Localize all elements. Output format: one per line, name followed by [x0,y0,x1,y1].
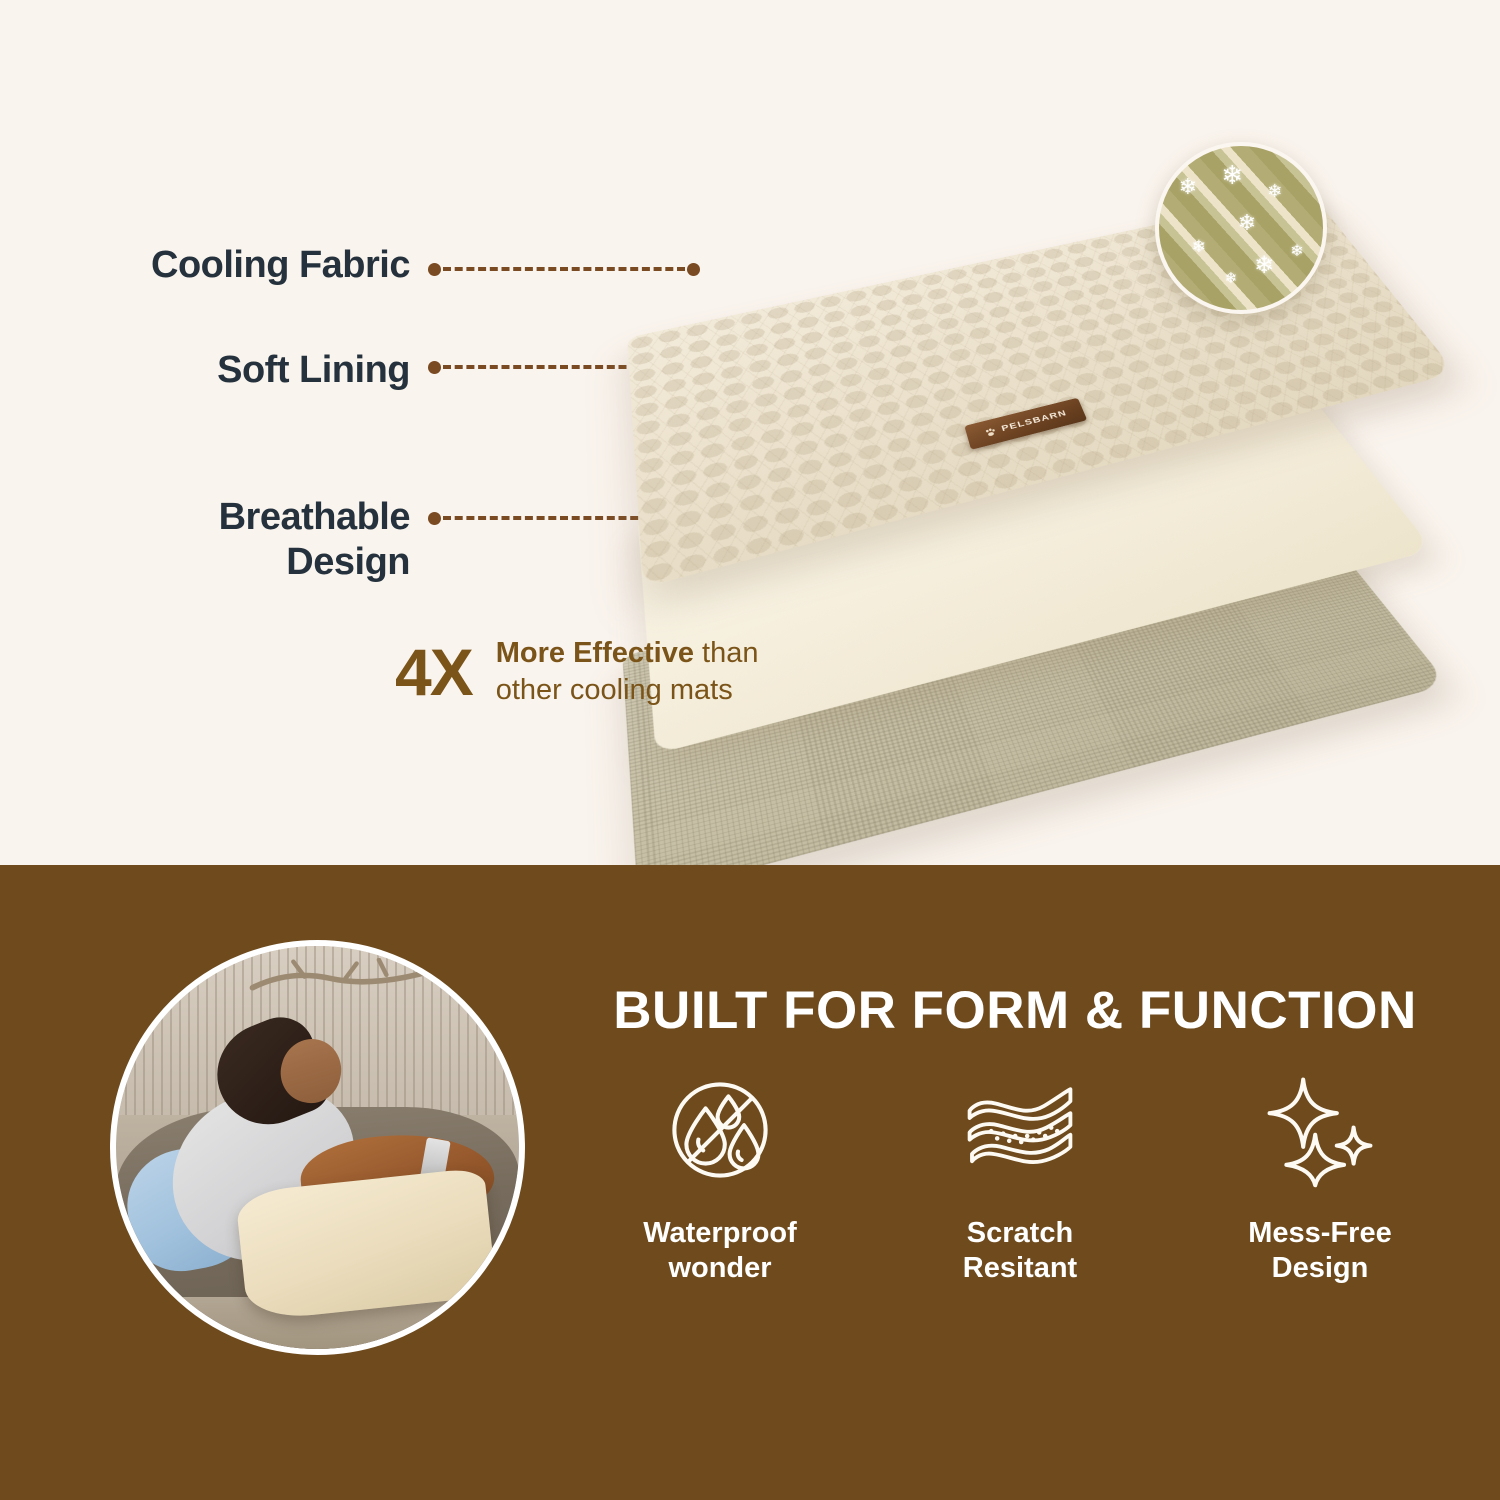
callout-text: More Effective than other cooling mats [496,635,826,708]
feature-label-waterproof: Waterproof wonder [643,1216,797,1287]
connector-dot-start [428,263,441,276]
layer-label-cooling-fabric: Cooling Fabric [40,243,410,288]
feature-row: Waterproof wonder [585,1070,1455,1287]
layer-label-soft-lining: Soft Lining [40,348,410,393]
photo-cooling-mat [235,1167,497,1321]
feature-scratch-resistant: Scratch Resitant [885,1070,1155,1287]
layered-wavy-fabric-icon [960,1070,1080,1190]
feature-mess-free-design: Mess-Free Design [1185,1070,1455,1287]
connector-dot-start [428,361,441,374]
feature-label-mess-free: Mess-Free Design [1248,1216,1391,1287]
product-layers-panel: Cooling Fabric Soft Lining Breathable De… [0,0,1500,865]
woman-smoothing-mat-with-dog-photo-icon [110,940,525,1355]
no-water-droplets-icon [660,1070,780,1190]
connector-dot-start [428,512,441,525]
sparkles-icon [1260,1070,1380,1190]
layer-label-breathable-design: Breathable Design [40,495,410,585]
fabric-weave-snowflake-macro-icon: ❄ ❄ ❄ ❄ ❄ ❄ ❄ ❄ [1155,142,1327,314]
callout-multiplier: 4X [395,639,472,705]
dog-paw-logo-icon [983,426,998,438]
effectiveness-callout: 4X More Effective than other cooling mat… [395,635,826,708]
feature-label-scratch-resistant: Scratch Resitant [963,1216,1077,1287]
section-headline: BUILT FOR FORM & FUNCTION [580,980,1450,1041]
callout-strong-text: More Effective [496,637,694,669]
photo-wall-branch-art-icon [245,958,438,1006]
feature-waterproof-wonder: Waterproof wonder [585,1070,855,1287]
form-and-function-panel: BUILT FOR FORM & FUNCTION Waterproof won… [0,865,1500,1500]
